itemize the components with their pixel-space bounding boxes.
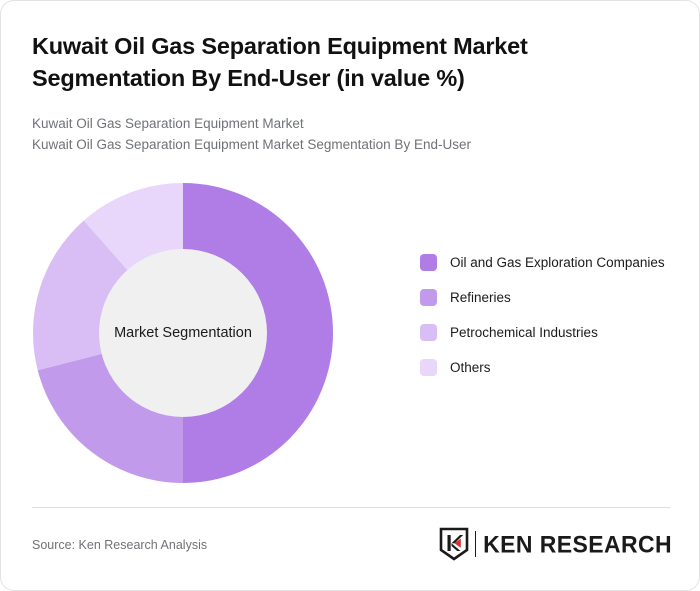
legend-item-label: Others [450, 358, 491, 377]
legend-swatch-icon [420, 254, 437, 271]
legend-item-label: Petrochemical Industries [450, 323, 598, 342]
legend-item[interactable]: Oil and Gas Exploration Companies [420, 253, 672, 272]
legend-item-label: Oil and Gas Exploration Companies [450, 253, 665, 272]
brand-logo: KEN RESEARCH [439, 525, 672, 563]
chart-legend: Oil and Gas Exploration Companies Refine… [420, 253, 672, 393]
source-note: Source: Ken Research Analysis [32, 538, 207, 552]
subtitle-line-2: Kuwait Oil Gas Separation Equipment Mark… [32, 134, 632, 155]
legend-swatch-icon [420, 289, 437, 306]
subtitle-line-1: Kuwait Oil Gas Separation Equipment Mark… [32, 113, 632, 134]
subtitle-block: Kuwait Oil Gas Separation Equipment Mark… [32, 113, 632, 155]
legend-item[interactable]: Refineries [420, 288, 672, 307]
page-title: Kuwait Oil Gas Separation Equipment Mark… [32, 30, 612, 94]
legend-swatch-icon [420, 324, 437, 341]
donut-chart: Market Segmentation [33, 183, 333, 483]
legend-swatch-icon [420, 359, 437, 376]
chart-card: Kuwait Oil Gas Separation Equipment Mark… [0, 0, 700, 591]
donut-center-label: Market Segmentation [33, 183, 333, 483]
legend-item[interactable]: Others [420, 358, 672, 377]
legend-item[interactable]: Petrochemical Industries [420, 323, 672, 342]
footer-divider [32, 507, 670, 508]
logo-separator-bar [475, 531, 476, 557]
legend-item-label: Refineries [450, 288, 511, 307]
ken-research-hexagon-k-icon [439, 527, 469, 561]
brand-logo-text: KEN RESEARCH [483, 530, 672, 558]
